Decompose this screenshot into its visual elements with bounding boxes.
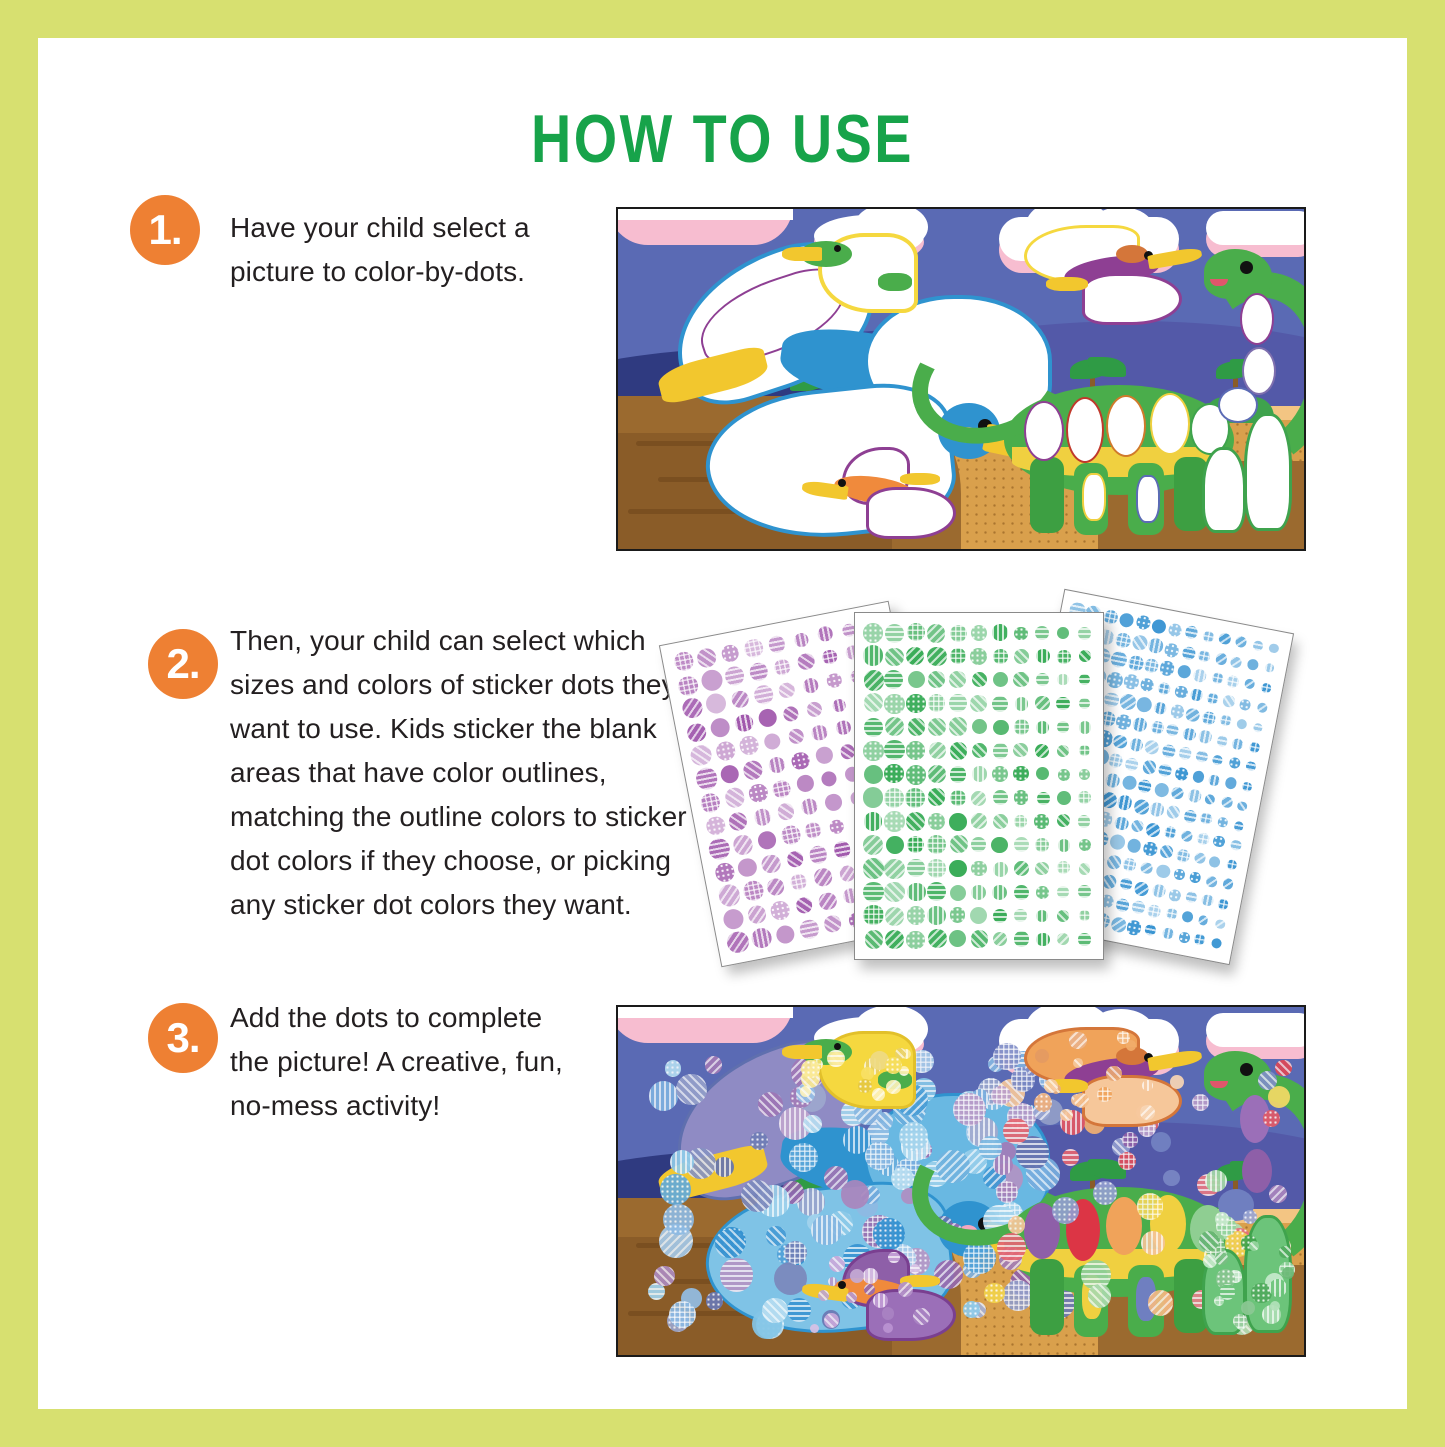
applied-sticker-dot <box>865 1142 894 1171</box>
applied-sticker-dot <box>841 1180 870 1209</box>
applied-sticker-dot <box>676 1074 707 1105</box>
applied-sticker-dot <box>818 1290 829 1301</box>
applied-sticker-dot <box>810 1324 819 1333</box>
applied-sticker-dot <box>750 1132 768 1150</box>
completed-dinosaur-scene <box>616 1005 1306 1357</box>
applied-sticker-dot <box>1073 1058 1083 1068</box>
applied-sticker-dot <box>1170 1075 1185 1090</box>
purple-pterosaur-sticker-fill <box>1030 1027 1190 1123</box>
applied-sticker-dot <box>800 1086 811 1097</box>
step-3: 3. Add the dots to complete the picture!… <box>38 38 1407 1409</box>
applied-sticker-dot <box>886 1080 901 1095</box>
applied-sticker-dot <box>705 1056 723 1074</box>
applied-sticker-dot <box>888 1252 900 1264</box>
page-card: HOW TO USE 1. Have your child select a p… <box>38 38 1407 1409</box>
applied-sticker-dot <box>1163 1170 1179 1186</box>
applied-sticker-dot <box>720 1258 754 1292</box>
applied-sticker-dot <box>1093 1181 1118 1206</box>
applied-sticker-dot <box>993 1043 1021 1071</box>
applied-sticker-dot <box>758 1092 783 1117</box>
applied-sticker-dot <box>824 1313 839 1328</box>
applied-sticker-dot <box>1142 1080 1153 1091</box>
applied-sticker-dot <box>1088 1284 1112 1308</box>
plant-sticker-fill <box>1196 1211 1296 1331</box>
applied-sticker-dot <box>660 1174 691 1205</box>
applied-sticker-dot <box>1205 1170 1227 1192</box>
applied-sticker-dot <box>850 1269 864 1283</box>
applied-sticker-dot <box>1052 1197 1079 1224</box>
applied-sticker-dot <box>1034 1094 1052 1112</box>
step-3-line-2: the picture! A creative, fun, <box>230 1040 630 1084</box>
applied-sticker-dot <box>1215 1252 1229 1266</box>
applied-sticker-dot <box>1106 1066 1122 1082</box>
step-3-line-1: Add the dots to complete <box>230 996 630 1040</box>
green-pterosaur-colored <box>786 1029 916 1109</box>
applied-sticker-dot <box>1044 1079 1058 1093</box>
applied-sticker-dot <box>715 1229 745 1259</box>
applied-sticker-dot <box>1233 1314 1247 1328</box>
applied-sticker-dot <box>882 1307 895 1320</box>
applied-sticker-dot <box>827 1050 845 1068</box>
green-pterosaur-sticker-fill <box>786 1029 916 1109</box>
applied-sticker-dot <box>913 1308 930 1325</box>
applied-sticker-dot <box>789 1143 818 1172</box>
applied-sticker-dot <box>1268 1086 1290 1108</box>
applied-sticker-dot <box>1148 1290 1174 1316</box>
applied-sticker-dot <box>863 1268 879 1284</box>
applied-sticker-dot <box>885 1057 902 1074</box>
applied-sticker-dot <box>829 1256 845 1272</box>
applied-sticker-dot <box>706 1292 723 1309</box>
applied-sticker-dot <box>873 1293 888 1308</box>
applied-sticker-dot <box>891 1167 915 1191</box>
applied-sticker-dot <box>1141 1231 1165 1255</box>
applied-sticker-dot <box>1269 1279 1287 1297</box>
applied-sticker-dot <box>846 1292 857 1303</box>
applied-sticker-dot <box>654 1266 675 1287</box>
applied-sticker-dot <box>803 1115 822 1134</box>
applied-sticker-dot <box>1241 1301 1255 1315</box>
applied-sticker-dot <box>864 1284 875 1295</box>
applied-sticker-dot <box>1069 1032 1087 1050</box>
applied-sticker-dot <box>861 1067 874 1080</box>
applied-sticker-dot <box>1192 1094 1209 1111</box>
applied-sticker-dot <box>801 1060 820 1079</box>
orange-pterosaur-colored <box>804 1249 944 1335</box>
step-3-badge: 3. <box>148 1003 218 1073</box>
applied-sticker-dot <box>1074 1093 1089 1108</box>
applied-sticker-dot <box>910 1264 920 1274</box>
applied-sticker-dot <box>1008 1216 1026 1234</box>
applied-sticker-dot <box>1263 1110 1280 1127</box>
desert-plant-colored <box>1196 1211 1296 1331</box>
applied-sticker-dot <box>1279 1246 1290 1257</box>
applied-sticker-dot <box>883 1323 893 1333</box>
applied-sticker-dot <box>766 1226 786 1246</box>
applied-sticker-dot <box>898 1282 914 1298</box>
applied-sticker-dot <box>1035 1049 1049 1063</box>
applied-sticker-dot <box>811 1215 842 1246</box>
applied-sticker-dot <box>1275 1060 1291 1076</box>
applied-sticker-dot <box>1199 1231 1219 1251</box>
applied-sticker-dot <box>762 1298 787 1323</box>
cloud-top-strip-3 <box>616 1007 793 1018</box>
applied-sticker-dot <box>1140 1105 1155 1120</box>
orange-pterosaur-sticker-fill <box>804 1249 944 1335</box>
applied-sticker-dot <box>1137 1193 1163 1219</box>
applied-sticker-dot <box>1097 1087 1112 1102</box>
applied-sticker-dot <box>1249 1241 1260 1252</box>
applied-sticker-dot <box>1151 1132 1172 1153</box>
applied-sticker-dot <box>876 1112 893 1129</box>
step-3-line-3: no-mess activity! <box>230 1084 630 1128</box>
applied-sticker-dot <box>1118 1152 1136 1170</box>
applied-sticker-dot <box>649 1081 679 1111</box>
applied-sticker-dot <box>1215 1212 1228 1225</box>
applied-sticker-dot <box>1060 1109 1073 1122</box>
applied-sticker-dot <box>872 1088 885 1101</box>
purple-pterosaur-colored <box>1030 1027 1190 1123</box>
applied-sticker-dot <box>1122 1132 1138 1148</box>
applied-sticker-dot <box>669 1301 696 1328</box>
applied-sticker-dot <box>828 1277 837 1286</box>
applied-sticker-dot <box>714 1157 734 1177</box>
applied-sticker-dot <box>1220 1284 1236 1300</box>
applied-sticker-dot <box>858 1079 872 1093</box>
step-3-text: Add the dots to complete the picture! A … <box>230 996 630 1128</box>
applied-sticker-dot <box>1269 1185 1288 1204</box>
applied-sticker-dot <box>991 1086 1011 1106</box>
applied-sticker-dot <box>663 1204 695 1236</box>
applied-sticker-dot <box>1003 1118 1030 1145</box>
applied-sticker-dot <box>1062 1149 1080 1167</box>
applied-sticker-dot <box>997 1233 1026 1262</box>
applied-sticker-dot <box>984 1283 1004 1303</box>
applied-sticker-dot <box>996 1181 1018 1203</box>
applied-sticker-dot <box>1282 1267 1294 1279</box>
applied-sticker-dot <box>665 1060 682 1077</box>
